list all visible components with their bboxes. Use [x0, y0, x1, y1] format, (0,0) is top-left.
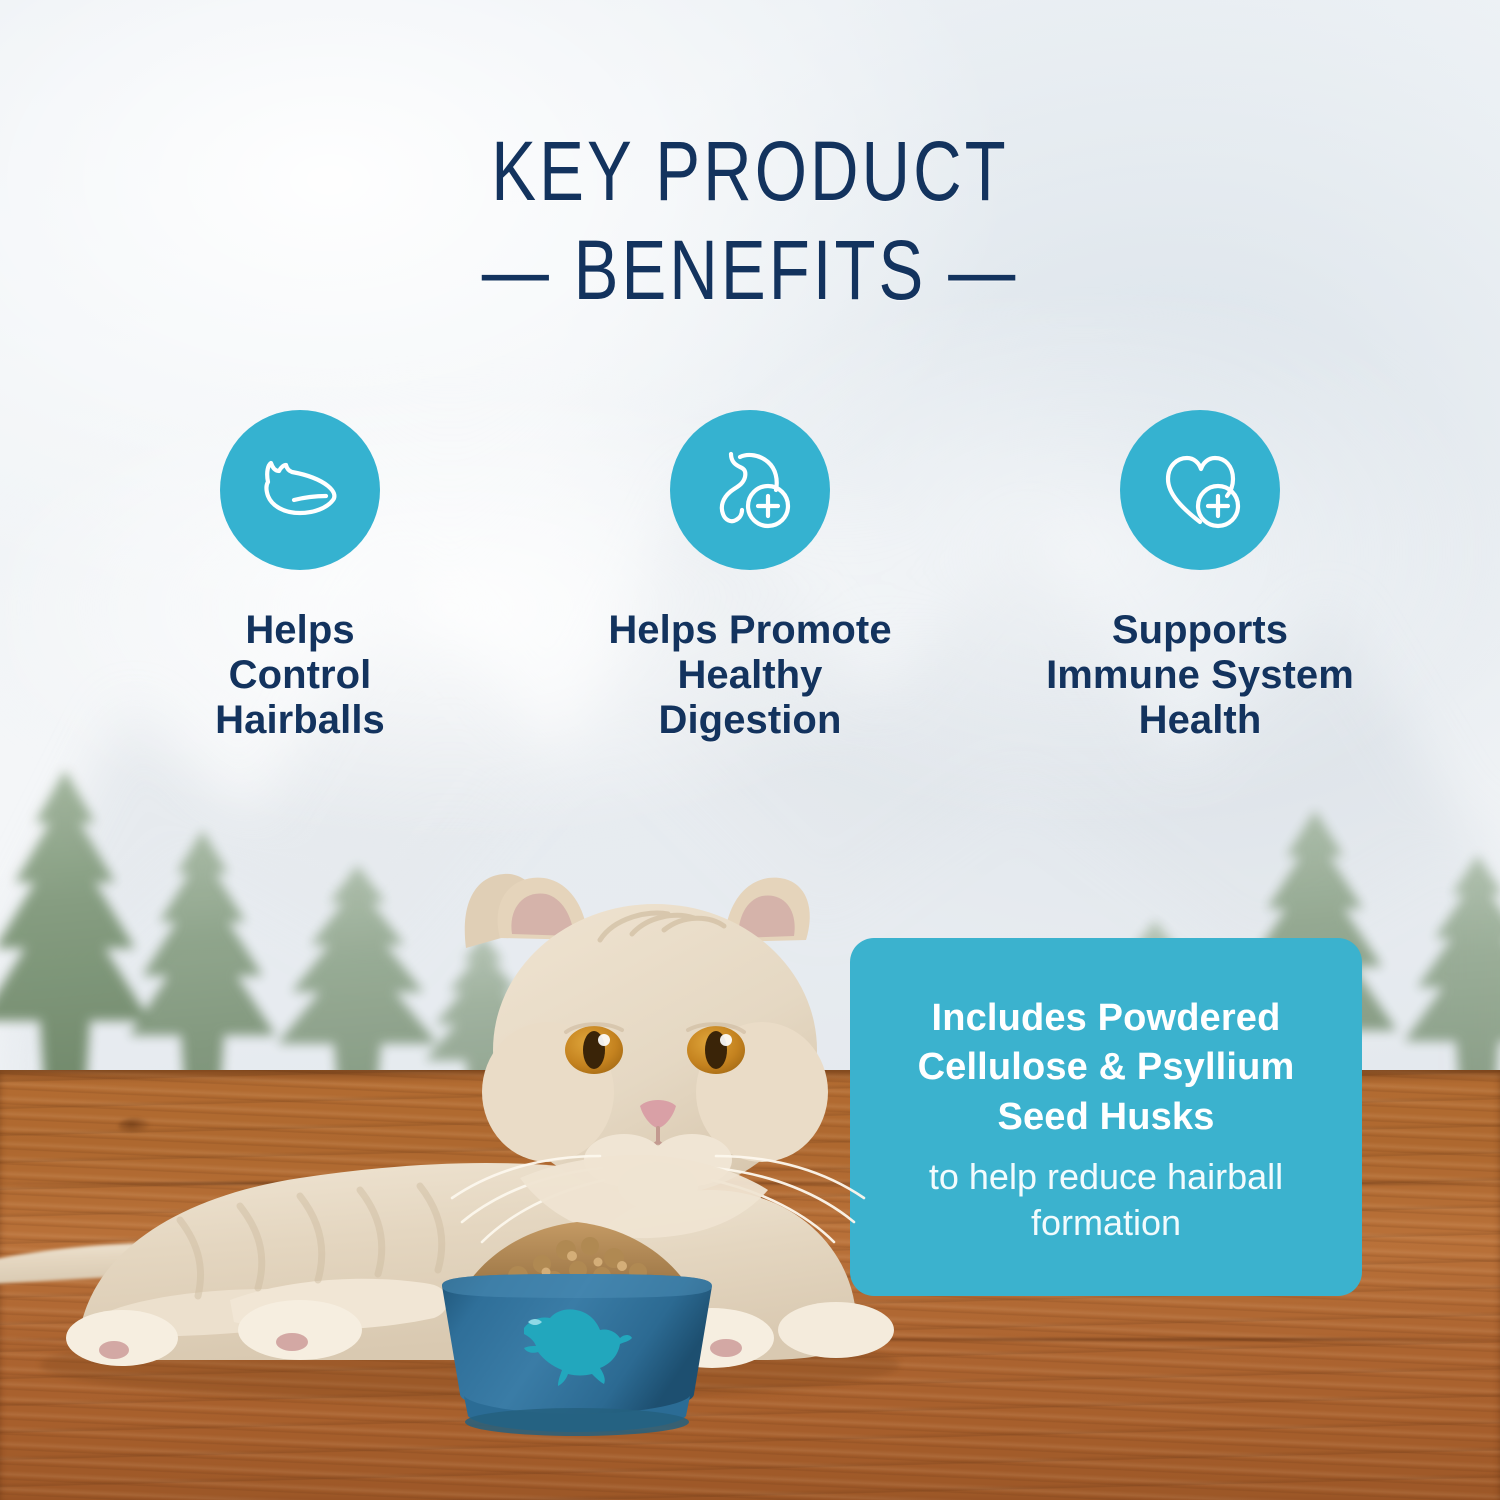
benefit-item-immune: SupportsImmune SystemHealth — [1040, 410, 1360, 742]
benefit-label: HelpsControlHairballs — [215, 608, 385, 742]
title-line-2: — BENEFITS — — [150, 227, 1350, 314]
heart-plus-icon — [1120, 410, 1280, 570]
stomach-plus-icon — [670, 410, 830, 570]
benefit-label: Helps PromoteHealthyDigestion — [608, 608, 891, 742]
page-title: KEY PRODUCT — BENEFITS — — [0, 128, 1500, 315]
benefit-label: SupportsImmune SystemHealth — [1046, 608, 1354, 742]
benefit-list: HelpsControlHairballs Helps PromoteHealt… — [0, 410, 1500, 742]
product-benefits-graphic: KEY PRODUCT — BENEFITS — HelpsControlHai… — [0, 0, 1500, 1500]
title-line-1: KEY PRODUCT — [150, 128, 1350, 215]
benefit-item-digestion: Helps PromoteHealthyDigestion — [590, 410, 910, 742]
hairball-cat-icon — [220, 410, 380, 570]
tree — [1370, 855, 1500, 1100]
food-bowl — [432, 1210, 722, 1440]
benefit-item-hairballs: HelpsControlHairballs — [140, 410, 460, 742]
